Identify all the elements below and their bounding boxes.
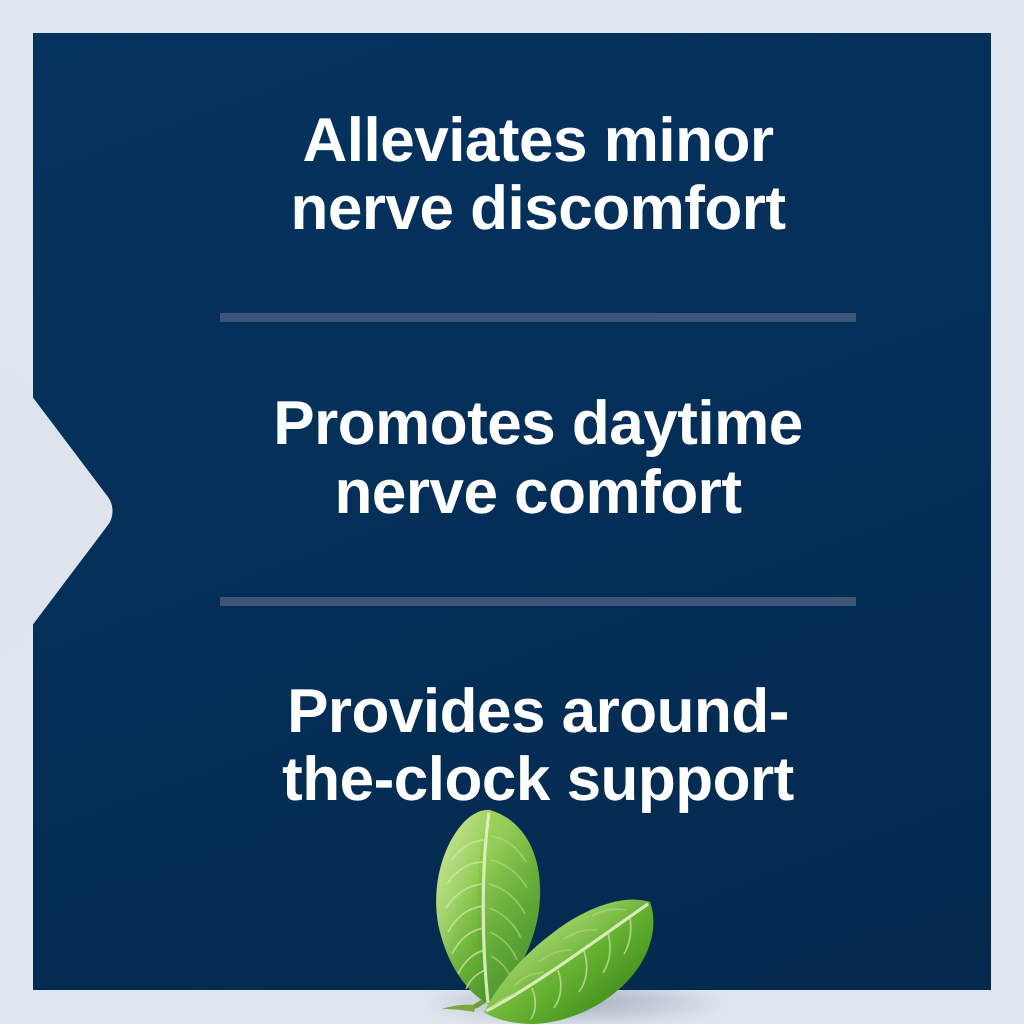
benefit-2-line-2: nerve comfort [203,459,873,527]
benefit-list: Alleviates minor nerve discomfort Promot… [33,33,991,990]
benefit-item-3: Provides around- the-clock support [203,678,873,814]
benefit-1-line-1: Alleviates minor [203,107,873,175]
benefit-divider-1 [220,313,856,322]
benefit-2-line-1: Promotes daytime [203,390,873,458]
benefit-divider-2 [220,597,856,606]
benefits-graphic: Alleviates minor nerve discomfort Promot… [0,0,1024,1024]
benefit-3-line-1: Provides around- [203,678,873,746]
benefit-item-1: Alleviates minor nerve discomfort [203,107,873,243]
benefit-3-line-2: the-clock support [203,746,873,814]
benefit-item-2: Promotes daytime nerve comfort [203,390,873,526]
benefit-1-line-2: nerve discomfort [203,175,873,243]
